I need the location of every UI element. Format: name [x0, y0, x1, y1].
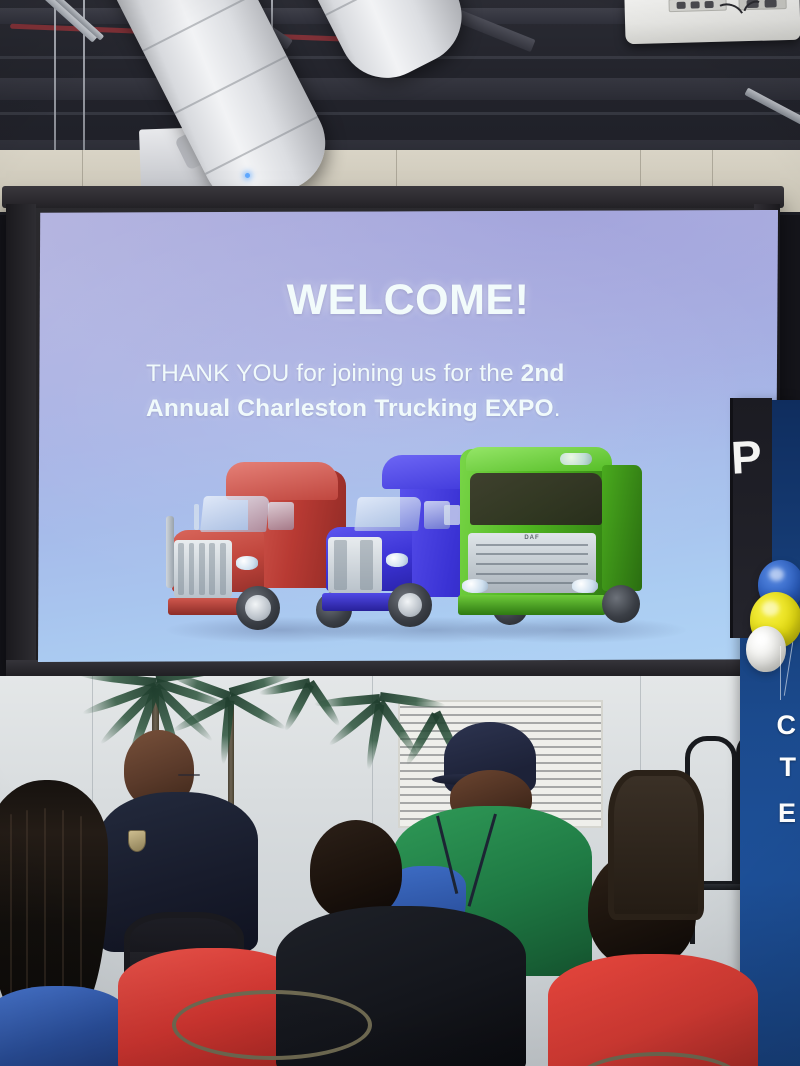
- banner-partial-glyph: P: [730, 429, 763, 485]
- blue-truck-windshield: [354, 497, 422, 531]
- audience-layer: [0, 690, 800, 1066]
- chair-rim-left: [172, 990, 372, 1060]
- right-attendee-torso: [548, 954, 758, 1066]
- presentation-photo-scene: WELCOME! THANK YOU for joining us for th…: [0, 0, 800, 1066]
- dark-shirt-head: [310, 820, 402, 920]
- hanger-rod-1: [54, 0, 56, 156]
- ceiling-projector: [624, 0, 800, 44]
- red-truck-exhaust-stack: [166, 516, 174, 588]
- red-truck-side-window: [268, 502, 294, 530]
- subtitle-event-name: Annual Charleston Trucking EXPO: [146, 395, 554, 422]
- braided-attendee-top: [0, 986, 128, 1066]
- green-truck-headlight-left: [462, 579, 488, 593]
- red-truck-front-wheel: [236, 586, 280, 630]
- red-truck-mirror: [194, 504, 199, 530]
- balloon-cluster: [746, 560, 800, 690]
- blue-truck-grille: [328, 537, 382, 593]
- red-truck-windshield: [200, 496, 270, 532]
- slide-subtitle-line-1: THANK YOU for joining us for the 2nd: [146, 360, 706, 389]
- green-truck-side-body: [602, 465, 642, 591]
- blue-truck-front-wheel: [388, 583, 432, 627]
- green-truck-wheel: [602, 585, 640, 623]
- red-truck-grille: [174, 540, 232, 598]
- truck-illustration-group: DAF: [156, 448, 656, 643]
- duct-indicator-light: [245, 173, 250, 178]
- projection-screen: WELCOME! THANK YOU for joining us for th…: [6, 196, 780, 676]
- chair-center: [608, 770, 704, 920]
- slide-title: WELCOME!: [38, 276, 778, 325]
- green-truck-windshield: [470, 473, 602, 525]
- green-semi-truck: DAF: [452, 447, 652, 633]
- officer-eyeglasses: [178, 774, 200, 776]
- subtitle-ordinal: 2nd: [521, 360, 565, 387]
- blue-truck-headlight: [386, 553, 408, 567]
- daf-badge-text: DAF: [468, 535, 596, 541]
- attendee-braided-hair: [0, 780, 130, 1066]
- screen-top-bar: [2, 186, 784, 208]
- green-truck-headlight-right: [572, 579, 598, 593]
- red-truck-headlight: [236, 556, 258, 570]
- ceiling: [0, 0, 800, 215]
- slide-subtitle-line-2: Annual Charleston Trucking EXPO.: [146, 395, 706, 424]
- screen-left-edge: [6, 204, 36, 670]
- green-truck-bumper: [458, 595, 606, 615]
- green-truck-roof-light: [560, 453, 592, 465]
- braided-hair: [0, 780, 108, 1020]
- welcome-slide: WELCOME! THANK YOU for joining us for th…: [38, 210, 778, 662]
- subtitle-period: .: [554, 395, 561, 422]
- slide-subtitle: THANK YOU for joining us for the 2nd Ann…: [146, 360, 706, 424]
- subtitle-plain-text: THANK YOU for joining us for the: [146, 360, 521, 387]
- officer-badge-patch: [128, 830, 146, 852]
